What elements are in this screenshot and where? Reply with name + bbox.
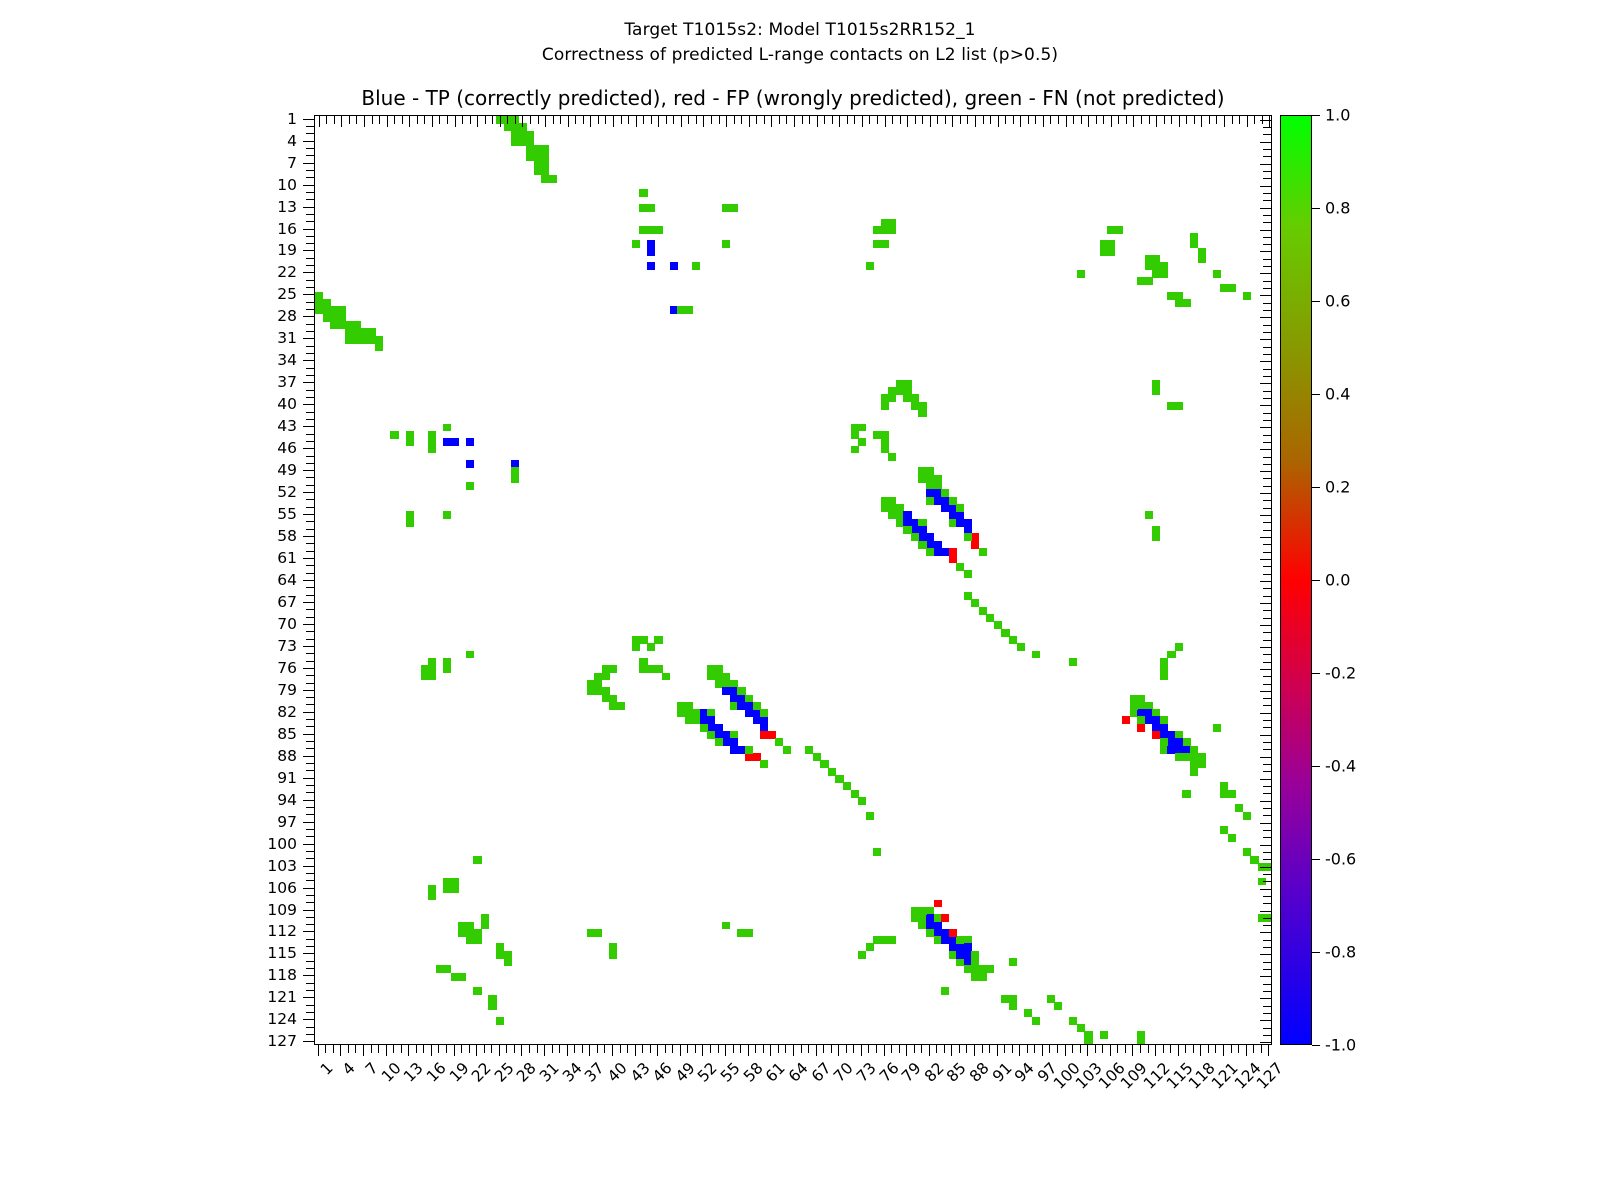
x-tick [710, 1045, 711, 1053]
title-line-2: Correctness of predicted L-range contact… [0, 43, 1600, 68]
x-tick [899, 1045, 900, 1053]
top-tick [372, 116, 373, 124]
x-tick [1057, 1045, 1058, 1053]
top-tick [1239, 116, 1240, 124]
y-tick-label: 43 [277, 417, 297, 435]
contact-cell-fn [390, 431, 398, 439]
y-tick [306, 126, 314, 127]
contact-map-cells [315, 116, 1271, 1044]
contact-cell-fn [964, 533, 972, 541]
top-tick [379, 116, 380, 124]
contact-cell-fn [632, 643, 640, 651]
top-tick [341, 116, 342, 127]
contact-cell-fn [881, 240, 889, 248]
y-tick [306, 719, 314, 720]
contact-cell-fn [1017, 643, 1025, 651]
right-tick [1260, 251, 1271, 252]
y-tick [303, 953, 314, 954]
y-tick [306, 968, 314, 969]
contact-cell-fn [647, 204, 655, 212]
right-tick [1263, 1013, 1271, 1014]
y-tick [306, 961, 314, 962]
colorbar-tick-label: 0.2 [1325, 478, 1350, 497]
right-tick [1263, 237, 1271, 238]
x-tick [687, 1045, 688, 1053]
y-tick [303, 316, 314, 317]
contact-cell-fn [1243, 292, 1251, 300]
contact-cell-fn [511, 475, 519, 483]
colorbar-tick [1312, 1045, 1320, 1046]
top-tick [817, 116, 818, 127]
top-tick [530, 116, 531, 124]
top-tick [854, 116, 855, 124]
y-tick [306, 763, 314, 764]
right-tick [1263, 442, 1271, 443]
contact-cell-fn [1175, 402, 1183, 410]
y-tick-label: 28 [277, 307, 297, 325]
top-tick [356, 116, 357, 124]
y-tick [306, 858, 314, 859]
y-tick [303, 382, 314, 383]
x-tick [529, 1045, 530, 1053]
x-tick [416, 1045, 417, 1053]
axes-legend-title: Blue - TP (correctly predicted), red - F… [314, 86, 1272, 110]
x-tick [378, 1045, 379, 1053]
right-tick [1263, 632, 1271, 633]
y-tick-label: 13 [277, 198, 297, 216]
contact-cell-fn [1198, 760, 1206, 768]
y-tick [303, 163, 314, 164]
x-tick [1148, 1045, 1149, 1053]
x-tick [537, 1045, 538, 1053]
x-tick [499, 1045, 500, 1056]
right-tick [1263, 244, 1271, 245]
right-tick [1260, 757, 1271, 758]
right-tick [1263, 815, 1271, 816]
y-tick [306, 507, 314, 508]
contact-cell-fn [979, 973, 987, 981]
contact-cell-fn [964, 570, 972, 578]
top-tick [492, 116, 493, 124]
top-tick [1247, 116, 1248, 127]
y-tick [306, 463, 314, 464]
right-tick [1260, 164, 1271, 165]
contact-cell-fn [1009, 958, 1017, 966]
top-tick [538, 116, 539, 124]
right-tick [1263, 530, 1271, 531]
contact-cell-fn [602, 673, 610, 681]
contact-cell-fp [1137, 724, 1145, 732]
right-tick [1263, 991, 1271, 992]
right-tick [1263, 303, 1271, 304]
x-tick [695, 1045, 696, 1053]
right-tick [1263, 156, 1271, 157]
top-tick [734, 116, 735, 124]
x-tick [740, 1045, 741, 1053]
x-tick [1027, 1045, 1028, 1053]
top-tick [937, 116, 938, 124]
right-tick [1263, 376, 1271, 377]
contact-cell-fn [685, 306, 693, 314]
y-tick-label: 97 [277, 813, 297, 831]
y-tick [303, 668, 314, 669]
right-tick [1263, 391, 1271, 392]
x-tick [1223, 1045, 1224, 1056]
x-tick [974, 1045, 975, 1056]
y-tick [306, 653, 314, 654]
contact-cell-fn [851, 446, 859, 454]
y-tick [303, 844, 314, 845]
x-tick [559, 1045, 560, 1053]
x-tick [446, 1045, 447, 1053]
colorbar-tick [1312, 952, 1320, 953]
right-tick [1263, 369, 1271, 370]
x-tick [348, 1045, 349, 1053]
top-tick [681, 116, 682, 127]
right-tick [1263, 808, 1271, 809]
contact-cell-tp [647, 262, 655, 270]
y-tick [306, 946, 314, 947]
right-tick [1263, 259, 1271, 260]
right-tick [1263, 347, 1271, 348]
x-tick [823, 1045, 824, 1053]
contact-cell-fn [1032, 651, 1040, 659]
x-tick [755, 1045, 756, 1053]
y-tick [306, 807, 314, 808]
right-tick [1263, 881, 1271, 882]
colorbar [1280, 115, 1312, 1045]
right-tick [1263, 830, 1271, 831]
top-tick [507, 116, 508, 124]
x-tick [408, 1045, 409, 1056]
x-tick [1140, 1045, 1141, 1053]
x-tick [521, 1045, 522, 1056]
right-tick [1263, 596, 1271, 597]
contact-cell-fn [1182, 790, 1190, 798]
y-tick [306, 155, 314, 156]
top-tick [1005, 116, 1006, 124]
x-tick [1087, 1045, 1088, 1056]
y-tick [306, 331, 314, 332]
x-tick [1117, 1045, 1118, 1053]
y-tick [306, 133, 314, 134]
y-tick [306, 199, 314, 200]
y-tick [306, 785, 314, 786]
x-tick [1215, 1045, 1216, 1053]
contact-cell-fn [888, 226, 896, 234]
right-tick [1263, 398, 1271, 399]
right-tick [1260, 361, 1271, 362]
right-tick [1260, 186, 1271, 187]
y-tick [306, 309, 314, 310]
right-tick [1263, 837, 1271, 838]
x-tick [1163, 1045, 1164, 1053]
contact-cell-fn [888, 453, 896, 461]
right-tick [1260, 1042, 1271, 1043]
contact-cell-fn [662, 673, 670, 681]
top-tick [1216, 116, 1217, 124]
y-tick [306, 902, 314, 903]
top-tick [334, 116, 335, 124]
x-tick [1132, 1045, 1133, 1056]
top-tick [568, 116, 569, 127]
contact-map-figure: Target T1015s2: Model T1015s2RR152_1 Cor… [0, 0, 1600, 1200]
x-tick [1238, 1045, 1239, 1053]
right-tick [1260, 735, 1271, 736]
right-tick [1263, 764, 1271, 765]
right-tick [1260, 230, 1271, 231]
contact-cell-fn [1228, 790, 1236, 798]
x-tick [763, 1045, 764, 1053]
top-tick [983, 116, 984, 124]
contact-cell-fn [1228, 284, 1236, 292]
y-tick [303, 690, 314, 691]
y-tick-label: 127 [267, 1032, 297, 1050]
x-tick [1012, 1045, 1013, 1053]
top-tick [900, 116, 901, 124]
y-tick [306, 397, 314, 398]
x-tick [514, 1045, 515, 1053]
y-tick-label: 4 [287, 132, 297, 150]
contact-cell-fp [941, 914, 949, 922]
y-tick [303, 360, 314, 361]
contact-cell-fn [443, 665, 451, 673]
top-tick [839, 116, 840, 127]
y-tick [303, 910, 314, 911]
x-tick [567, 1045, 568, 1056]
contact-cell-fn [918, 907, 926, 915]
top-tick [756, 116, 757, 124]
colorbar-tick-label: -0.8 [1325, 943, 1356, 962]
y-tick [303, 866, 314, 867]
top-tick [741, 116, 742, 124]
contact-cell-fn [549, 175, 557, 183]
y-tick [303, 975, 314, 976]
right-tick [1263, 749, 1271, 750]
right-tick [1263, 457, 1271, 458]
top-tick [349, 116, 350, 124]
right-tick [1260, 669, 1271, 670]
y-tick [303, 624, 314, 625]
contact-cell-fn [1145, 277, 1153, 285]
top-tick [764, 116, 765, 124]
y-tick-label: 25 [277, 285, 297, 303]
right-tick [1263, 1035, 1271, 1036]
contact-cell-fn [866, 812, 874, 820]
x-tick [620, 1045, 621, 1053]
y-tick [306, 456, 314, 457]
y-tick [303, 536, 314, 537]
top-tick [1209, 116, 1210, 124]
right-tick [1263, 222, 1271, 223]
contact-cell-fn [594, 929, 602, 937]
top-tick [1224, 116, 1225, 127]
contact-cell-fn [1160, 270, 1168, 278]
right-tick [1263, 786, 1271, 787]
y-tick [303, 448, 314, 449]
y-tick [306, 631, 314, 632]
contact-cell-fn [504, 958, 512, 966]
right-tick [1260, 493, 1271, 494]
right-tick [1263, 310, 1271, 311]
top-tick [1269, 116, 1270, 127]
y-tick [306, 243, 314, 244]
contact-cell-fn [941, 987, 949, 995]
y-tick [303, 602, 314, 603]
y-tick-label: 52 [277, 483, 297, 501]
y-tick [306, 192, 314, 193]
contact-cell-fn [473, 856, 481, 864]
y-tick-label: 76 [277, 659, 297, 677]
x-tick [1193, 1045, 1194, 1053]
right-tick [1263, 464, 1271, 465]
top-tick [869, 116, 870, 124]
y-tick-label: 70 [277, 615, 297, 633]
y-tick-label: 7 [287, 154, 297, 172]
y-tick-label: 112 [267, 922, 297, 940]
top-tick [1043, 116, 1044, 127]
contact-cell-fn [1100, 1031, 1108, 1039]
contact-cell-fn [926, 548, 934, 556]
x-tick [702, 1045, 703, 1056]
right-tick [1260, 845, 1271, 846]
y-tick [306, 587, 314, 588]
contact-cell-fn [1250, 856, 1258, 864]
x-tick [1102, 1045, 1103, 1053]
colorbar-tick-label: 0.0 [1325, 571, 1350, 590]
colorbar-tick-label: -0.6 [1325, 850, 1356, 869]
right-tick [1263, 522, 1271, 523]
top-tick [583, 116, 584, 124]
x-tick [1261, 1045, 1262, 1053]
x-tick [1095, 1045, 1096, 1053]
right-tick [1263, 1006, 1271, 1007]
x-tick [861, 1045, 862, 1056]
y-tick-label: 124 [267, 1010, 297, 1028]
y-tick [303, 338, 314, 339]
contact-cell-fn [1130, 702, 1138, 710]
x-tick [454, 1045, 455, 1056]
y-tick-label: 22 [277, 263, 297, 281]
y-tick [303, 185, 314, 186]
y-tick [306, 895, 314, 896]
contact-cell-tp [670, 262, 678, 270]
x-tick [838, 1045, 839, 1056]
y-tick [306, 880, 314, 881]
x-tick [642, 1045, 643, 1053]
x-tick [597, 1045, 598, 1053]
x-tick [506, 1045, 507, 1053]
y-tick [306, 814, 314, 815]
right-tick [1260, 691, 1271, 692]
top-tick [409, 116, 410, 127]
top-tick [967, 116, 968, 124]
top-tick [824, 116, 825, 124]
x-tick [725, 1045, 726, 1056]
y-tick-label: 10 [277, 176, 297, 194]
y-tick [306, 390, 314, 391]
x-tick [944, 1045, 945, 1053]
top-tick [862, 116, 863, 127]
right-tick [1263, 896, 1271, 897]
y-tick [303, 778, 314, 779]
x-tick [333, 1045, 334, 1053]
y-tick [303, 250, 314, 251]
right-tick [1260, 427, 1271, 428]
y-tick [306, 477, 314, 478]
right-tick [1260, 713, 1271, 714]
top-tick [455, 116, 456, 127]
y-tick [306, 280, 314, 281]
y-tick [306, 836, 314, 837]
x-tick [484, 1045, 485, 1053]
top-tick [1028, 116, 1029, 124]
contact-cell-fn [609, 951, 617, 959]
y-tick [306, 1027, 314, 1028]
contact-cell-fn [428, 673, 436, 681]
contact-cell-fn [1009, 1002, 1017, 1010]
y-tick [303, 646, 314, 647]
contact-cell-fn [473, 936, 481, 944]
x-tick [785, 1045, 786, 1053]
x-tick [476, 1045, 477, 1056]
x-tick [1208, 1045, 1209, 1053]
y-tick [306, 683, 314, 684]
right-tick [1260, 867, 1271, 868]
figure-title: Target T1015s2: Model T1015s2RR152_1 Cor… [0, 18, 1600, 68]
x-tick [582, 1045, 583, 1053]
x-tick-label: 7 [362, 1059, 382, 1079]
contact-cell-fn [632, 240, 640, 248]
top-tick [915, 116, 916, 124]
top-tick [1088, 116, 1089, 127]
right-tick [1263, 288, 1271, 289]
top-tick [319, 116, 320, 127]
top-tick [598, 116, 599, 124]
y-tick [303, 1041, 314, 1042]
top-tick [1149, 116, 1150, 124]
x-tick [1072, 1045, 1073, 1053]
x-tick [431, 1045, 432, 1056]
top-tick [1111, 116, 1112, 127]
top-tick [1073, 116, 1074, 124]
right-tick [1260, 295, 1271, 296]
y-tick [303, 712, 314, 713]
contact-cell-fn [888, 394, 896, 402]
y-tick-label: 58 [277, 527, 297, 545]
x-tick [966, 1045, 967, 1053]
right-tick [1260, 383, 1271, 384]
right-tick [1260, 954, 1271, 955]
y-tick [306, 675, 314, 676]
y-tick [306, 873, 314, 874]
right-tick [1263, 149, 1271, 150]
colorbar-tick-label: 0.4 [1325, 385, 1350, 404]
contact-cell-fn [617, 702, 625, 710]
right-tick [1263, 793, 1271, 794]
x-tick [793, 1045, 794, 1056]
contact-cell-tp [451, 438, 459, 446]
contact-cell-fn [428, 446, 436, 454]
contact-cell-fn [451, 885, 459, 893]
y-tick [303, 558, 314, 559]
contact-cell-fn [1145, 511, 1153, 519]
contact-map-plot-area[interactable] [314, 115, 1272, 1045]
top-tick [975, 116, 976, 127]
colorbar-tick [1312, 487, 1320, 488]
x-tick [665, 1045, 666, 1053]
top-tick [711, 116, 712, 124]
